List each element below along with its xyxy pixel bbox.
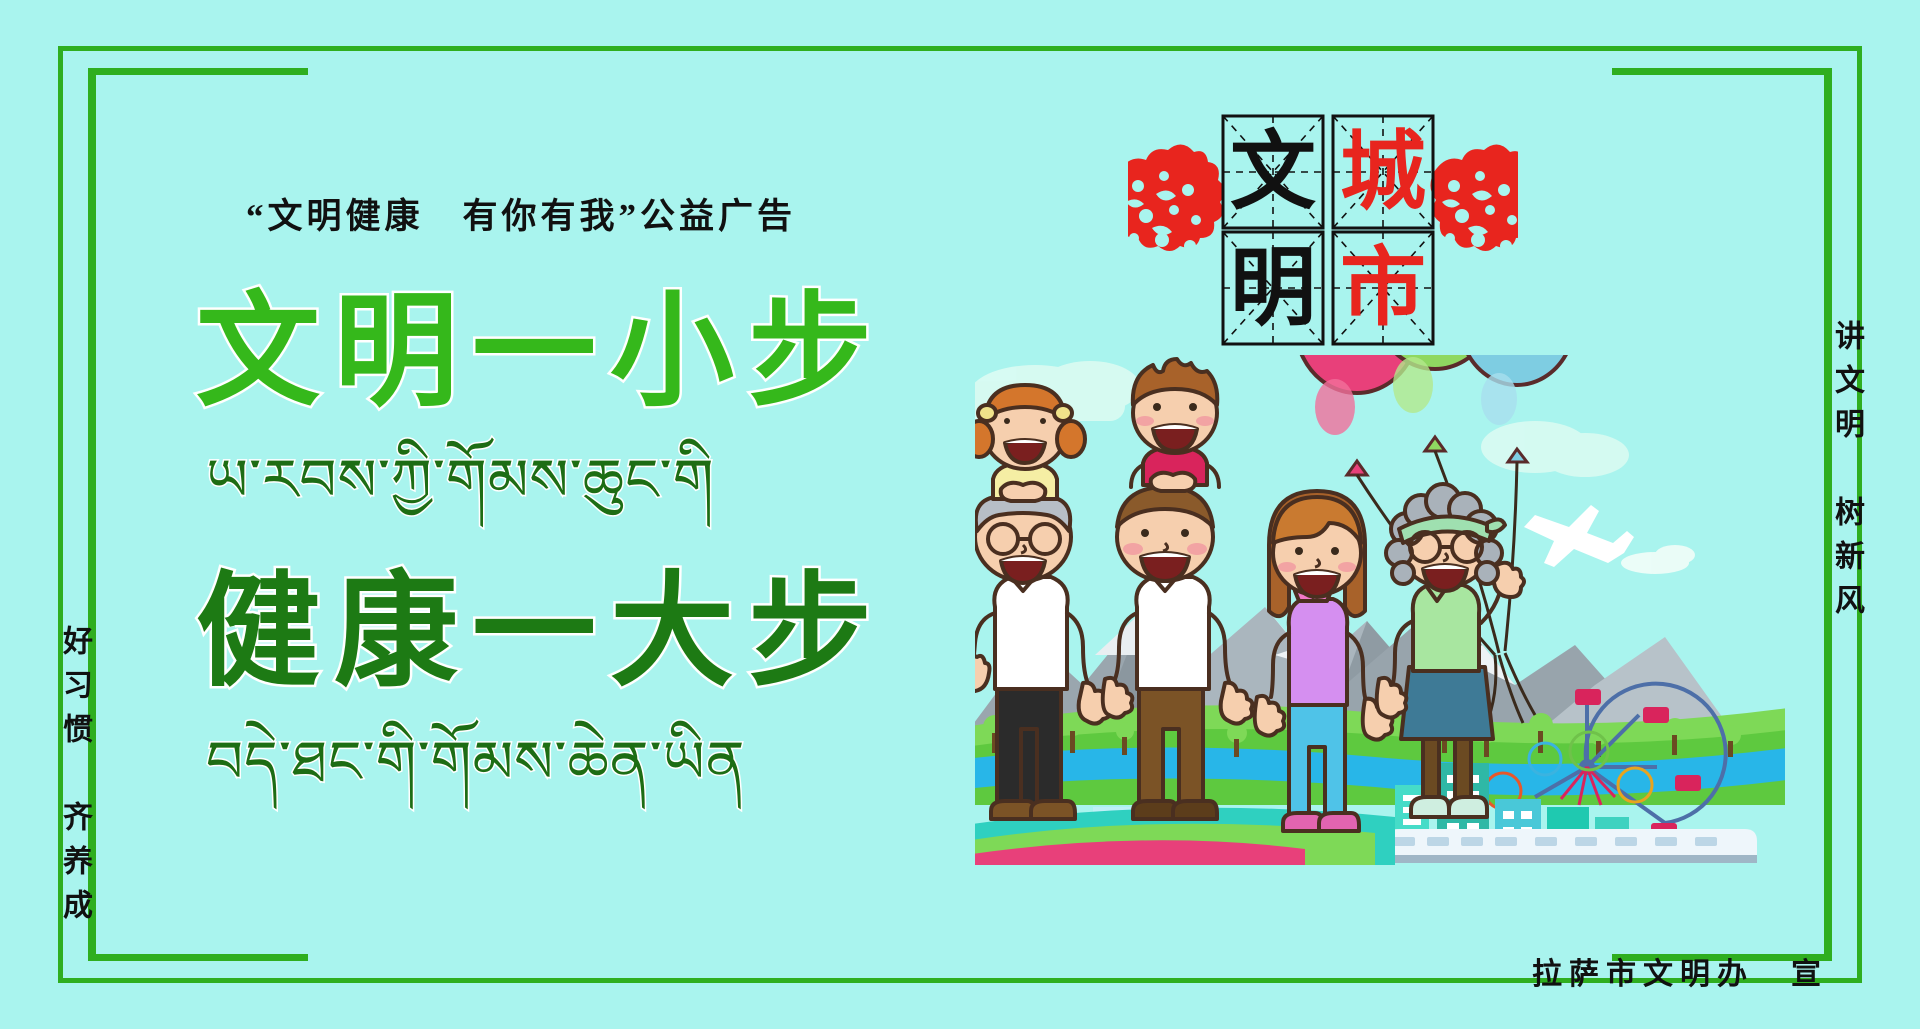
person-boy-on-shoulders xyxy=(1131,359,1219,491)
illustration-svg xyxy=(975,355,1785,865)
seal-char-shi: 市 xyxy=(1333,232,1433,344)
headline-line2-chinese: 健康一大步 xyxy=(196,570,886,694)
train-icon xyxy=(1357,829,1757,863)
seal-char-wen: 文 xyxy=(1223,116,1323,228)
papercut-ornament-right-icon xyxy=(1430,144,1518,252)
slogan-left-vertical: 好习惯 齐养成 xyxy=(52,625,96,933)
slogan-right-vertical: 讲文明 树新风 xyxy=(1824,320,1868,628)
headline-line2-tibetan: བདེ་ཐང་གི་གོམས་ཆེན་ཡིན xyxy=(206,734,745,792)
family-illustration xyxy=(975,355,1785,865)
poster-frame-tick-bottom-left xyxy=(88,954,308,961)
campaign-kicker: “文明健康 有你有我”公益广告 xyxy=(246,188,796,239)
poster-frame-tick-top-left xyxy=(88,68,308,75)
issuer-signature: 拉萨市文明办 宣 xyxy=(1532,949,1828,993)
seal-svg xyxy=(1128,112,1518,352)
papercut-ornament-left-icon xyxy=(1128,144,1225,252)
poster-canvas: “文明健康 有你有我”公益广告 文明一小步 ཡ་རབས་ཀྱི་གོམས་ཆུང… xyxy=(0,0,1920,1029)
headline-line1-tibetan: ཡ་རབས་ཀྱི་གོམས་ཆུང་གི xyxy=(206,452,715,510)
seal-char-ming: 明 xyxy=(1223,232,1323,344)
seal-char-cheng: 城 xyxy=(1333,116,1433,228)
civilized-city-seal: 文 明 城 市 xyxy=(1128,112,1518,352)
poster-frame-tick-top-right xyxy=(1612,68,1832,75)
headline-line1-chinese: 文明一小步 xyxy=(196,290,886,414)
